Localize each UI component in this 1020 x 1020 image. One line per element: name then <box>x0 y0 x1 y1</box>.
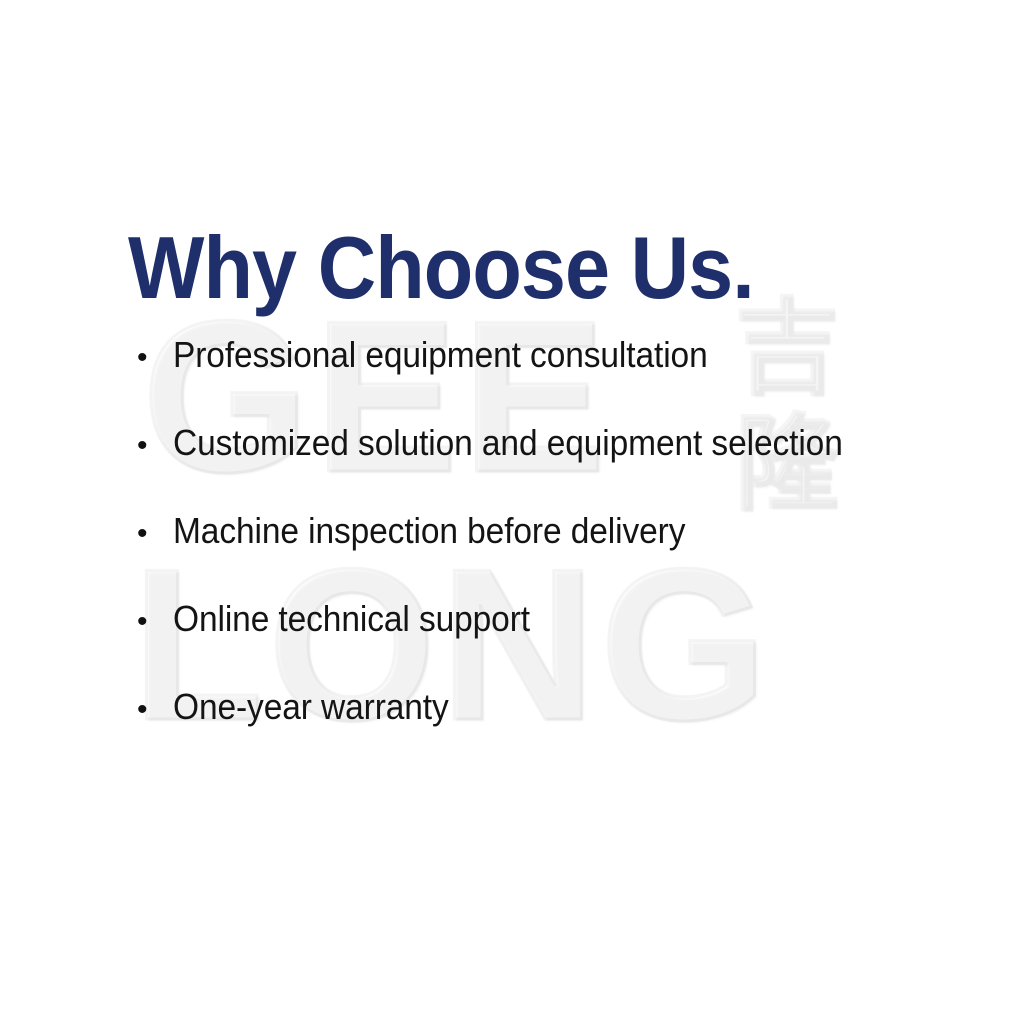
benefit-label: Machine inspection before delivery <box>173 513 685 549</box>
list-item: • Machine inspection before delivery <box>134 513 974 601</box>
list-item: • Online technical support <box>134 601 974 689</box>
slide-canvas: GEE LONG 吉 隆 Why Choose Us. • Profession… <box>0 0 1020 1020</box>
bullet-icon: • <box>134 431 173 461</box>
page-title: Why Choose Us. <box>128 217 754 319</box>
benefit-list: • Professional equipment consultation • … <box>134 337 974 777</box>
benefit-label: Professional equipment consultation <box>173 337 708 373</box>
bullet-icon: • <box>134 607 173 637</box>
benefit-label: One-year warranty <box>173 689 449 725</box>
benefit-label: Customized solution and equipment select… <box>173 425 843 461</box>
benefit-label: Online technical support <box>173 601 530 637</box>
bullet-icon: • <box>134 343 173 373</box>
bullet-icon: • <box>134 519 173 549</box>
bullet-icon: • <box>134 695 173 725</box>
list-item: • Customized solution and equipment sele… <box>134 425 974 513</box>
list-item: • Professional equipment consultation <box>134 337 974 425</box>
list-item: • One-year warranty <box>134 689 974 777</box>
